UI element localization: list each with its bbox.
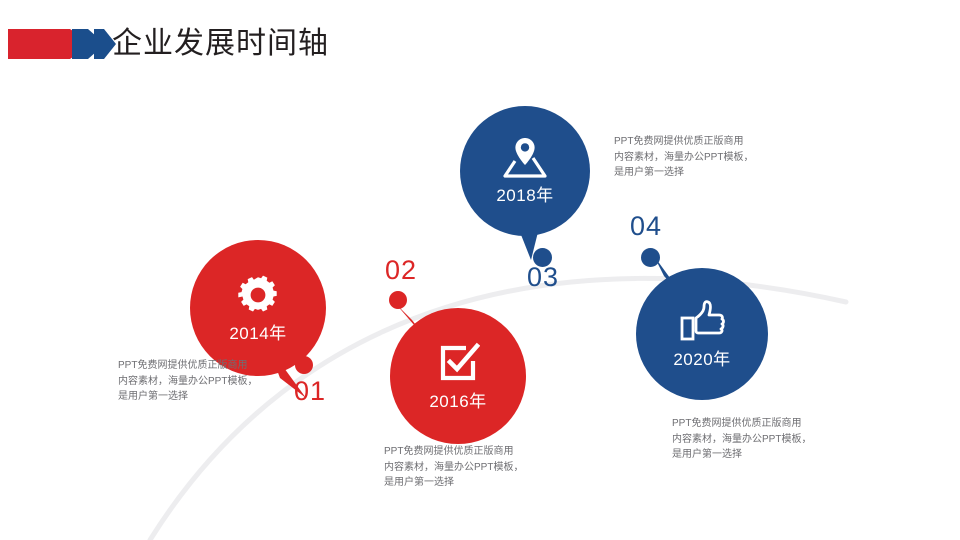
milestone-02-dot[interactable] <box>389 291 407 309</box>
milestone-03-description: PPT免费网提供优质正版商用 内容素材，海量办公PPT模板， 是用户第一选择 <box>614 134 753 181</box>
milestone-04-circle[interactable]: 2020年 <box>636 268 768 400</box>
milestone-04-desc-line-3: 是用户第一选择 <box>672 447 811 463</box>
milestone-01-dot[interactable] <box>295 356 313 374</box>
milestone-03-number: 03 <box>527 262 559 292</box>
header-arrow-chevron-icon <box>8 27 116 61</box>
milestone-02-desc-line-3: 是用户第一选择 <box>384 475 523 491</box>
milestone-04-dot[interactable] <box>641 248 660 267</box>
milestone-02-desc-line-1: PPT免费网提供优质正版商用 <box>384 444 523 460</box>
milestone-02-circle[interactable]: 2016年 <box>390 308 526 444</box>
milestone-02[interactable]: 2016年 <box>390 308 526 444</box>
slide-canvas: 企业发展时间轴 2014年 01 PPT免费网提供优质正版商用 内容素材，海量办… <box>0 0 960 540</box>
milestone-03-circle[interactable]: 2018年 <box>460 106 590 236</box>
map-pin-icon <box>502 137 548 179</box>
milestone-01-desc-line-1: PPT免费网提供优质正版商用 <box>118 358 257 374</box>
milestone-04[interactable]: 2020年 <box>636 268 768 400</box>
milestone-03[interactable]: 2018年 <box>460 106 590 236</box>
milestone-04-desc-line-2: 内容素材，海量办公PPT模板， <box>672 432 811 448</box>
milestone-03-desc-line-3: 是用户第一选择 <box>614 165 753 181</box>
slide-header: 企业发展时间轴 <box>0 0 960 96</box>
milestone-04-number: 04 <box>630 211 662 241</box>
milestone-03-year: 2018年 <box>496 186 553 206</box>
milestone-01-description: PPT免费网提供优质正版商用 内容素材，海量办公PPT模板， 是用户第一选择 <box>118 358 257 405</box>
milestone-01-desc-line-3: 是用户第一选择 <box>118 389 257 405</box>
milestone-02-number: 02 <box>385 255 417 285</box>
milestone-01-year: 2014年 <box>229 324 286 344</box>
milestone-04-description: PPT免费网提供优质正版商用 内容素材，海量办公PPT模板， 是用户第一选择 <box>672 416 811 463</box>
checkbox-check-icon <box>436 341 480 385</box>
milestone-02-desc-line-2: 内容素材，海量办公PPT模板， <box>384 460 523 476</box>
gear-icon <box>236 273 280 317</box>
milestone-03-desc-line-2: 内容素材，海量办公PPT模板， <box>614 150 753 166</box>
milestone-02-year: 2016年 <box>429 392 486 412</box>
milestone-01-desc-line-2: 内容素材，海量办公PPT模板， <box>118 374 257 390</box>
milestone-03-desc-line-1: PPT免费网提供优质正版商用 <box>614 134 753 150</box>
thumbs-up-icon <box>679 299 725 343</box>
milestone-04-desc-line-1: PPT免费网提供优质正版商用 <box>672 416 811 432</box>
milestone-01-number: 01 <box>294 376 326 406</box>
milestone-04-year: 2020年 <box>673 350 730 370</box>
page-title: 企业发展时间轴 <box>112 27 329 61</box>
milestone-02-description: PPT免费网提供优质正版商用 内容素材，海量办公PPT模板， 是用户第一选择 <box>384 444 523 491</box>
